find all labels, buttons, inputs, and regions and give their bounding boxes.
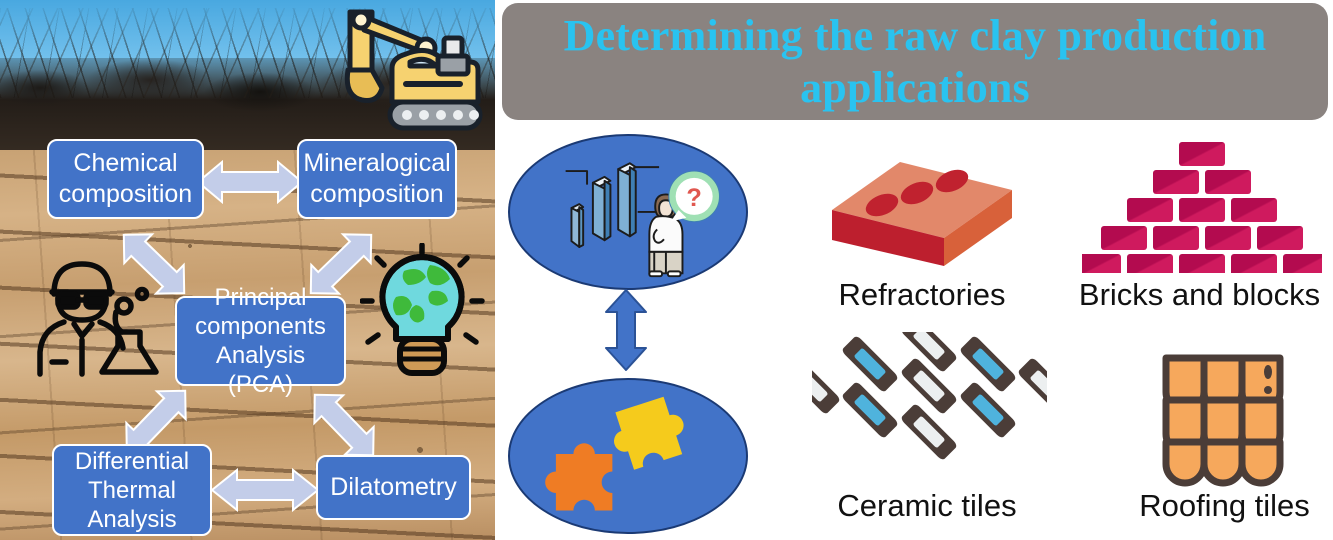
page-title-line1: Determining the raw clay production [564, 10, 1267, 62]
arrow-chemical-to-mineralogical [196, 160, 304, 204]
pca-analysis-illustration: ? [508, 134, 748, 290]
box-dilatometry-label: Dilatometry [330, 472, 456, 503]
arrow-dta-to-dilatometry [210, 468, 320, 512]
excavator-icon [334, 2, 484, 135]
vertical-double-arrow [600, 288, 652, 372]
box-dta-label: Differential Thermal Analysis [60, 447, 204, 534]
title-banner: Determining the raw clay production appl… [502, 3, 1328, 120]
box-chemical-composition-label: Chemical composition [55, 148, 196, 210]
box-chemical-composition[interactable]: Chemical composition [47, 139, 204, 219]
box-mineralogical-composition-label: Mineralogical composition [303, 148, 450, 210]
right-panel: Determining the raw clay production appl… [497, 0, 1333, 540]
ceramic-tile-grid-icon [812, 332, 1047, 482]
svg-text:?: ? [686, 184, 701, 212]
box-differential-thermal-analysis[interactable]: Differential Thermal Analysis [52, 444, 212, 536]
page-title: Determining the raw clay production appl… [564, 10, 1267, 114]
puzzle-pieces-illustration [508, 378, 748, 534]
box-mineralogical-composition[interactable]: Mineralogical composition [297, 139, 457, 219]
label-roofing-tiles: Roofing tiles [1087, 488, 1333, 524]
box-pca-label: Principal components Analysis (PCA) [183, 283, 338, 399]
box-principal-components-analysis[interactable]: Principal components Analysis (PCA) [175, 296, 346, 386]
brick-pyramid-icon [1082, 138, 1322, 273]
box-dilatometry[interactable]: Dilatometry [316, 455, 471, 520]
graphical-abstract: Chemical composition Mineralogical compo… [0, 0, 1333, 540]
left-panel: Chemical composition Mineralogical compo… [0, 0, 497, 540]
page-title-line2: applications [564, 62, 1267, 114]
roof-tiles-icon [1152, 348, 1302, 488]
label-refractories: Refractories [807, 277, 1037, 313]
label-ceramic-tiles: Ceramic tiles [807, 488, 1047, 524]
brick-with-holes-icon [822, 148, 1022, 276]
label-bricks-and-blocks: Bricks and blocks [1062, 277, 1333, 313]
